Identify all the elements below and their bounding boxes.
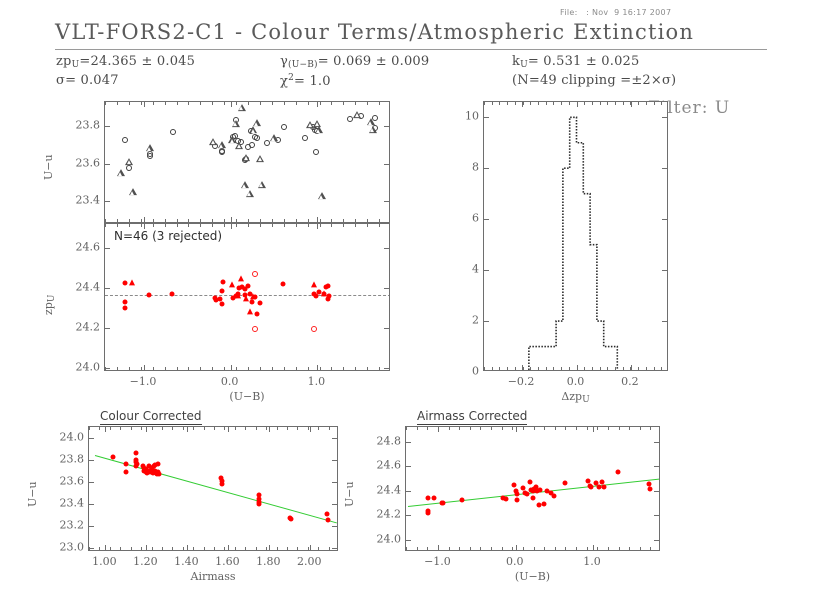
x-minor-tick <box>193 547 194 550</box>
panel-colour-residuals <box>104 101 390 223</box>
x-minor-tick <box>284 219 285 222</box>
param-k-sub: U <box>520 60 528 70</box>
x-minor-tick <box>131 427 132 430</box>
data-point <box>325 511 330 516</box>
x-tick-mark <box>187 427 188 432</box>
y-tick-label: 24.4 <box>64 281 100 294</box>
x-minor-tick <box>597 547 598 550</box>
x-tick-label: 1.60 <box>215 555 240 568</box>
y-tick-label: 24.2 <box>64 321 100 334</box>
data-point <box>122 137 128 143</box>
y-tick-label: 24.0 <box>48 430 84 443</box>
data-point <box>247 308 253 314</box>
x-minor-tick <box>236 219 237 222</box>
y-tick-mark <box>105 288 110 289</box>
x-tick-mark <box>317 217 318 222</box>
y-tick-label: 23.6 <box>48 474 84 487</box>
data-point <box>256 162 264 169</box>
data-point <box>220 289 225 294</box>
y-tick-mark <box>332 548 337 549</box>
data-point <box>242 161 250 168</box>
x-minor-tick <box>512 427 513 430</box>
x-minor-tick <box>355 367 356 370</box>
x-minor-tick <box>141 427 142 430</box>
x-tick-mark <box>231 365 232 370</box>
x-minor-tick <box>640 427 641 430</box>
data-point <box>512 482 517 487</box>
x-minor-tick <box>308 547 309 550</box>
x-minor-tick <box>260 224 261 227</box>
y-tick-mark <box>105 328 110 329</box>
data-point <box>254 312 259 317</box>
x-tick-label: 1.80 <box>256 555 281 568</box>
y-tick-mark <box>654 491 659 492</box>
data-point <box>541 501 546 506</box>
x-minor-tick <box>343 219 344 222</box>
x-minor-tick <box>296 367 297 370</box>
plot-area-middle <box>105 224 389 370</box>
data-point <box>146 151 154 158</box>
param-zeropoint: zpU=24.365 ± 0.045 <box>56 54 195 70</box>
x-minor-tick <box>491 427 492 430</box>
y-tick-mark <box>654 515 659 516</box>
x-minor-tick <box>287 547 288 550</box>
x-minor-tick <box>236 224 237 227</box>
data-point <box>220 301 225 306</box>
y-tick-label: 24.0 <box>365 532 401 545</box>
x-minor-tick <box>576 547 577 550</box>
x-minor-tick <box>224 219 225 222</box>
data-point <box>147 292 152 297</box>
x-minor-tick <box>343 224 344 227</box>
x-minor-tick <box>131 547 132 550</box>
data-point <box>235 292 241 298</box>
x-minor-tick <box>200 102 201 105</box>
x-tick-label: 2.00 <box>297 555 322 568</box>
x-minor-tick <box>260 367 261 370</box>
param-gamma-value: = 0.069 ± 0.009 <box>318 54 430 69</box>
data-point <box>243 295 249 301</box>
data-point <box>530 496 535 501</box>
x-minor-tick <box>619 547 620 550</box>
x-minor-tick <box>427 427 428 430</box>
x-axis-title: Airmass <box>191 570 236 583</box>
x-minor-tick <box>110 547 111 550</box>
x-minor-tick <box>224 224 225 227</box>
data-point <box>238 275 244 281</box>
data-point <box>122 305 127 310</box>
y-axis-title-text: zp <box>42 302 55 315</box>
x-tick-mark <box>187 545 188 550</box>
y-tick-mark <box>384 201 389 202</box>
y-tick-label: 6 <box>443 212 479 225</box>
x-minor-tick <box>272 224 273 227</box>
x-minor-tick <box>117 367 118 370</box>
x-minor-tick <box>379 224 380 227</box>
data-point <box>313 149 319 155</box>
x-minor-tick <box>297 547 298 550</box>
x-axis-title: ΔzpU <box>561 390 589 405</box>
plot-area-colour-corrected <box>89 427 337 550</box>
x-minor-tick <box>200 219 201 222</box>
x-minor-tick <box>331 102 332 105</box>
x-minor-tick <box>224 547 225 550</box>
page-title: VLT-FORS2-C1 - Colour Terms/Atmospheric … <box>55 20 755 44</box>
x-minor-tick <box>188 102 189 105</box>
x-minor-tick <box>470 427 471 430</box>
x-tick-label: −0.2 <box>508 375 535 388</box>
param-sigma-label: σ= <box>56 73 76 88</box>
x-minor-tick <box>296 224 297 227</box>
x-tick-mark <box>105 427 106 432</box>
data-point <box>311 281 317 287</box>
file-timestamp: File: : Nov 9 16:17 2007 <box>560 8 671 17</box>
data-point <box>527 480 532 485</box>
data-point <box>563 481 568 486</box>
param-clipping: (N=49 clipping =±2×σ) <box>512 73 676 88</box>
x-axis-title-text: Airmass <box>191 570 236 583</box>
x-minor-tick <box>193 427 194 430</box>
x-minor-tick <box>177 224 178 227</box>
x-minor-tick <box>141 224 142 227</box>
data-point <box>648 487 653 492</box>
data-point <box>124 470 129 475</box>
x-minor-tick <box>105 102 106 105</box>
x-minor-tick <box>284 367 285 370</box>
x-minor-tick <box>236 102 237 105</box>
x-axis-title: (U−B) <box>515 570 550 583</box>
x-tick-mark <box>516 545 517 550</box>
x-tick-mark <box>105 545 106 550</box>
data-point <box>249 133 257 140</box>
x-minor-tick <box>183 427 184 430</box>
x-minor-tick <box>320 219 321 222</box>
data-point <box>288 516 293 521</box>
data-point <box>252 326 258 332</box>
panel-airmass-corrected <box>405 426 660 551</box>
x-minor-tick <box>188 219 189 222</box>
x-minor-tick <box>608 547 609 550</box>
param-chisq: χ2= 1.0 <box>280 73 331 89</box>
x-minor-tick <box>355 102 356 105</box>
x-minor-tick <box>165 367 166 370</box>
x-minor-tick <box>277 547 278 550</box>
data-point <box>117 177 125 184</box>
x-minor-tick <box>318 547 319 550</box>
data-point <box>281 124 287 130</box>
x-tick-mark <box>228 427 229 432</box>
x-minor-tick <box>502 427 503 430</box>
x-minor-tick <box>224 427 225 430</box>
y-tick-label: 23.2 <box>48 518 84 531</box>
x-minor-tick <box>367 102 368 105</box>
x-minor-tick <box>555 547 556 550</box>
x-axis-title-sub: U <box>582 395 590 405</box>
data-point <box>270 141 278 148</box>
y-tick-mark <box>89 438 94 439</box>
data-point <box>524 491 529 496</box>
x-tick-mark <box>269 427 270 432</box>
x-minor-tick <box>379 219 380 222</box>
y-tick-label: 23.8 <box>64 119 100 132</box>
x-tick-mark <box>146 427 147 432</box>
y-tick-mark <box>332 482 337 483</box>
x-minor-tick <box>162 547 163 550</box>
x-minor-tick <box>212 367 213 370</box>
x-minor-tick <box>355 219 356 222</box>
y-axis-title: zpU <box>42 295 57 315</box>
x-minor-tick <box>576 427 577 430</box>
x-minor-tick <box>266 547 267 550</box>
x-minor-tick <box>417 547 418 550</box>
x-minor-tick <box>120 547 121 550</box>
x-minor-tick <box>141 547 142 550</box>
x-minor-tick <box>214 547 215 550</box>
y-axis-title: U−u <box>343 481 356 507</box>
x-minor-tick <box>587 547 588 550</box>
panel-title: Colour Corrected <box>100 409 202 423</box>
x-minor-tick <box>355 224 356 227</box>
data-point <box>325 296 330 301</box>
y-tick-label: 0 <box>443 365 479 378</box>
data-point <box>218 148 226 155</box>
y-tick-mark <box>384 164 389 165</box>
x-minor-tick <box>260 219 261 222</box>
panel-residual-histogram <box>483 101 668 371</box>
x-minor-tick <box>105 367 106 370</box>
x-minor-tick <box>367 224 368 227</box>
y-tick-label: 24.6 <box>365 459 401 472</box>
y-tick-mark <box>654 540 659 541</box>
x-minor-tick <box>555 427 556 430</box>
x-minor-tick <box>438 547 439 550</box>
y-tick-mark <box>654 466 659 467</box>
y-tick-label: 24.2 <box>365 508 401 521</box>
x-minor-tick <box>343 102 344 105</box>
x-minor-tick <box>129 102 130 105</box>
x-tick-mark <box>146 545 147 550</box>
data-point <box>252 271 258 277</box>
y-tick-label: 23.4 <box>48 496 84 509</box>
x-axis-title: (U−B) <box>229 390 264 403</box>
x-minor-tick <box>343 367 344 370</box>
y-tick-label: 24.0 <box>64 361 100 374</box>
x-minor-tick <box>117 224 118 227</box>
x-tick-mark <box>317 365 318 370</box>
x-minor-tick <box>152 427 153 430</box>
data-point <box>431 495 436 500</box>
data-point <box>246 284 251 289</box>
y-tick-mark <box>332 504 337 505</box>
data-point <box>369 133 377 140</box>
data-point <box>311 326 317 332</box>
data-point <box>122 281 127 286</box>
data-point <box>258 301 263 306</box>
x-minor-tick <box>235 547 236 550</box>
x-minor-tick <box>99 427 100 430</box>
data-point <box>129 195 137 202</box>
x-minor-tick <box>245 547 246 550</box>
x-tick-label: 1.20 <box>133 555 158 568</box>
x-minor-tick <box>587 427 588 430</box>
data-point <box>229 281 235 287</box>
x-minor-tick <box>129 367 130 370</box>
x-tick-mark <box>144 102 145 107</box>
x-minor-tick <box>480 547 481 550</box>
x-minor-tick <box>329 427 330 430</box>
x-tick-label: 0.0 <box>221 375 239 388</box>
x-minor-tick <box>256 547 257 550</box>
data-point <box>125 165 133 172</box>
y-axis-title-text: U−u <box>343 481 356 507</box>
data-point <box>589 485 594 490</box>
y-tick-label: 4 <box>443 263 479 276</box>
x-minor-tick <box>224 367 225 370</box>
y-tick-mark <box>332 526 337 527</box>
x-tick-label: 1.0 <box>583 555 601 568</box>
x-minor-tick <box>480 427 481 430</box>
y-tick-label: 2 <box>443 314 479 327</box>
x-minor-tick <box>459 547 460 550</box>
x-tick-mark <box>593 545 594 550</box>
y-tick-mark <box>332 460 337 461</box>
data-point <box>235 149 243 156</box>
y-tick-label: 8 <box>443 161 479 174</box>
param-gamma: γ(U−B)= 0.069 ± 0.009 <box>280 54 429 70</box>
x-minor-tick <box>331 224 332 227</box>
x-minor-tick <box>296 219 297 222</box>
x-minor-tick <box>183 547 184 550</box>
param-k-value: = 0.531 ± 0.025 <box>528 54 640 69</box>
y-tick-mark <box>105 164 110 165</box>
data-point <box>504 496 509 501</box>
x-minor-tick <box>534 427 535 430</box>
x-tick-mark <box>317 224 318 229</box>
x-minor-tick <box>177 102 178 105</box>
param-zp-value: =24.365 ± 0.045 <box>79 54 195 69</box>
x-minor-tick <box>172 427 173 430</box>
y-tick-mark <box>406 491 411 492</box>
data-point <box>220 279 225 284</box>
x-minor-tick <box>449 547 450 550</box>
x-tick-label: 0.2 <box>621 375 639 388</box>
x-tick-mark <box>144 365 145 370</box>
y-tick-mark <box>384 328 389 329</box>
fit-line <box>95 455 337 523</box>
x-minor-tick <box>204 427 205 430</box>
y-tick-label: 24.8 <box>365 434 401 447</box>
x-minor-tick <box>165 219 166 222</box>
data-point <box>257 501 262 506</box>
x-minor-tick <box>110 427 111 430</box>
x-minor-tick <box>284 224 285 227</box>
x-minor-tick <box>188 367 189 370</box>
data-point <box>220 482 225 487</box>
data-point <box>459 498 464 503</box>
x-minor-tick <box>153 224 154 227</box>
data-point <box>425 510 430 515</box>
x-axis-title-text: Δzp <box>561 390 582 403</box>
x-tick-mark <box>310 545 311 550</box>
x-minor-tick <box>406 547 407 550</box>
x-tick-mark <box>317 102 318 107</box>
x-minor-tick <box>120 427 121 430</box>
x-minor-tick <box>89 427 90 430</box>
plot-area-top <box>105 102 389 222</box>
x-minor-tick <box>153 367 154 370</box>
x-minor-tick <box>235 427 236 430</box>
data-point <box>133 451 138 456</box>
data-point <box>601 485 606 490</box>
data-point <box>315 133 323 140</box>
x-minor-tick <box>329 547 330 550</box>
y-tick-mark <box>406 442 411 443</box>
x-minor-tick <box>248 219 249 222</box>
param-extinction: kU= 0.531 ± 0.025 <box>512 54 640 70</box>
y-tick-mark <box>406 515 411 516</box>
data-point <box>238 111 246 118</box>
x-minor-tick <box>165 224 166 227</box>
x-minor-tick <box>188 224 189 227</box>
x-minor-tick <box>296 102 297 105</box>
x-minor-tick <box>417 427 418 430</box>
x-minor-tick <box>308 102 309 105</box>
data-point <box>538 488 543 493</box>
data-point <box>321 290 327 296</box>
x-minor-tick <box>308 427 309 430</box>
panel-title-text: Colour Corrected <box>100 409 202 425</box>
data-point <box>250 299 255 304</box>
y-tick-label: 24.4 <box>365 483 401 496</box>
y-tick-mark <box>89 460 94 461</box>
x-minor-tick <box>200 224 201 227</box>
data-point <box>134 464 139 469</box>
x-minor-tick <box>629 427 630 430</box>
x-minor-tick <box>367 219 368 222</box>
y-tick-mark <box>105 248 110 249</box>
x-minor-tick <box>297 427 298 430</box>
x-minor-tick <box>172 547 173 550</box>
x-minor-tick <box>367 367 368 370</box>
y-tick-mark <box>406 540 411 541</box>
param-sigma-value: 0.047 <box>76 73 119 88</box>
x-tick-label: 0.0 <box>567 375 585 388</box>
x-minor-tick <box>141 102 142 105</box>
x-tick-label: 0.0 <box>506 555 524 568</box>
data-point <box>324 285 329 290</box>
x-minor-tick <box>544 427 545 430</box>
x-tick-mark <box>144 217 145 222</box>
x-tick-mark <box>231 102 232 107</box>
data-point <box>515 498 520 503</box>
x-tick-mark <box>593 427 594 432</box>
x-minor-tick <box>245 427 246 430</box>
x-minor-tick <box>212 224 213 227</box>
x-minor-tick <box>117 219 118 222</box>
x-minor-tick <box>534 547 535 550</box>
x-tick-mark <box>310 427 311 432</box>
x-minor-tick <box>640 547 641 550</box>
x-minor-tick <box>379 367 380 370</box>
x-minor-tick <box>272 102 273 105</box>
x-minor-tick <box>470 547 471 550</box>
x-minor-tick <box>153 219 154 222</box>
x-minor-tick <box>308 219 309 222</box>
y-axis-title-sub: U <box>47 295 57 303</box>
x-minor-tick <box>427 547 428 550</box>
data-point <box>156 472 161 477</box>
x-minor-tick <box>248 367 249 370</box>
